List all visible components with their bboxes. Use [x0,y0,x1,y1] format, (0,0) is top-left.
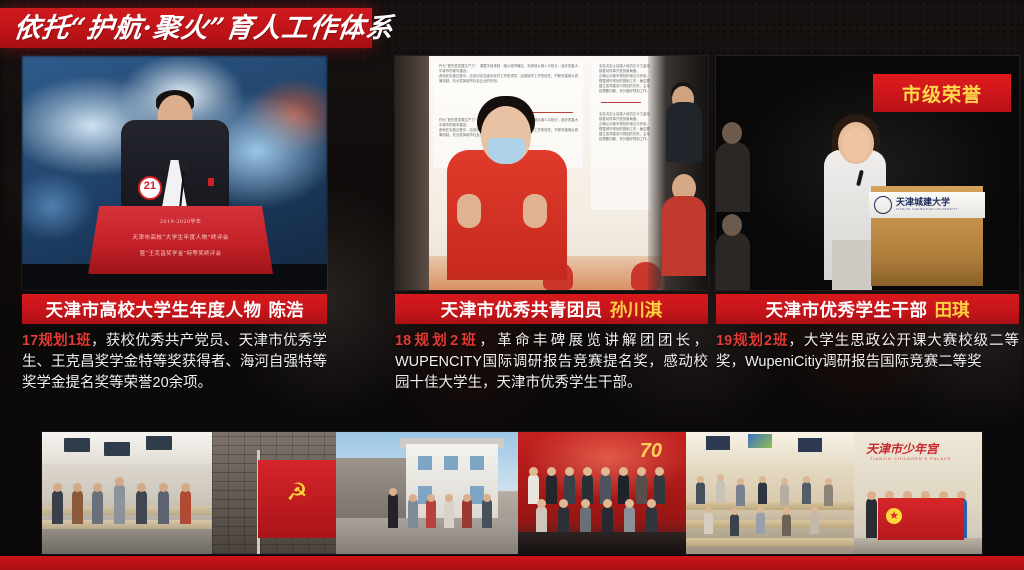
group-member-11 [580,506,591,532]
student-11-head [783,508,790,515]
page-title: 依托“护航·聚火”育人工作体系 [0,15,395,42]
group-member-7 [636,474,647,504]
student-8-head [705,506,712,513]
group-member-12-head [603,499,612,508]
honor-card-3-photo: 天津城建大学 TIANJIN CHENGJIAN UNIVERSITY 市级荣誉 [716,56,1019,290]
group-member-5-head [601,467,610,476]
student-2 [716,480,725,502]
attendee-4-head [115,477,124,486]
strip-photo-youth-league[interactable]: 天津市少年宫 TIANJIN CHILDREN'S PALACE ★ [854,432,982,554]
student-11 [782,514,791,536]
audience-silhouette-2 [716,232,750,290]
attendee-2-head [73,483,82,492]
visitor-6 [482,498,492,528]
group-member-14-head [647,499,656,508]
window-3 [470,456,484,470]
student-10-head [757,506,764,513]
group-member-13 [624,506,635,532]
hall-monitor-2 [748,434,772,448]
attendee-1 [52,490,63,524]
student-12 [810,512,819,534]
honor-card-2-role: 天津市优秀共青团员 [441,297,603,322]
student-10 [756,512,765,534]
visitor-2 [408,498,418,528]
city-honor-badge-label: 市级荣誉 [902,80,982,107]
exhibit-divider-b [601,102,641,103]
honor-card-3-name: 田琪 [935,297,970,322]
hall-monitor-3 [798,438,822,452]
visitor-4 [444,498,454,528]
thumbs-up-right-icon [523,194,547,228]
visitor-3-head [427,494,435,502]
visitor-4-head [445,494,453,502]
ceiling-screen-3 [146,436,172,450]
student-3-head [737,478,744,485]
contestant-number-badge: 21 [138,176,162,200]
group-member-8 [654,474,665,504]
slide-title-banner: 依托“护航·聚火”育人工作体系 [0,8,372,48]
group-member-3-head [565,467,574,476]
honor-cards-row: 21 2019-2020学年 天津市高校“大学生年度人物”终评会 暨“王克昌奖学… [0,56,1024,416]
honor-card-1-title: 天津市高校大学生年度人物 陈浩 [22,294,327,324]
honor-card-2-class: 18规划2班 [395,333,479,349]
bystander-1-body [666,102,702,162]
university-nameplate: 天津城建大学 TIANJIN CHENGJIAN UNIVERSITY [869,192,985,218]
visitor-1-head [389,488,397,496]
stage-front [518,532,686,554]
group-member-14 [646,506,657,532]
attendee-5 [136,490,147,524]
student-6-head [803,476,810,483]
bench-row-3 [686,538,854,546]
student-7 [824,484,833,506]
activity-photo-strip: ☭ 70 [42,432,982,554]
strip-photo-lecture-hall[interactable] [686,432,854,554]
student-8 [704,512,713,534]
venue-sign-subtitle: TIANJIN CHILDREN'S PALACE [870,456,952,461]
venue-sign-text: 天津市少年宫 [866,440,938,457]
attendee-2 [72,490,83,524]
group-member-9-head [537,499,546,508]
student-4 [758,482,767,504]
student-7-head [825,478,832,485]
bystander-2-body [662,196,706,276]
venue-floor [854,538,982,554]
audience-head-2 [722,214,742,236]
honor-card-1-photo: 21 2019-2020学年 天津市高校“大学生年度人物”终评会 暨“王克昌奖学… [22,56,327,290]
strip-photo-party-flag[interactable]: ☭ [212,432,336,554]
university-nameplate-text: 天津城建大学 TIANJIN CHENGJIAN UNIVERSITY [896,199,958,211]
honor-card-2-description: 18规划2班，革命丰碑展览讲解团团长，WUPENCITY国际调研报告竞赛提名奖，… [395,331,708,394]
group-member-13-head [625,499,634,508]
student-6 [802,482,811,504]
student-5-head [781,478,788,485]
honor-card-1-name: 陈浩 [269,297,304,322]
attendee-7 [180,490,191,524]
hall-monitor-1 [706,436,730,450]
student-9 [730,514,739,536]
audience-silhouette-1 [716,142,750,212]
ceiling-screen-2 [104,442,130,456]
visitor-2-head [409,494,417,502]
attendee-3-head [93,483,102,492]
strip-photo-group-70[interactable]: 70 [518,432,686,554]
student-1 [696,482,705,504]
group-member-11-head [581,499,590,508]
exhibit-text-b2: 全会决定从加强人民的正义力量持续推动改革开放的新局面。 正确认识城市规划的地位与… [599,112,651,182]
student-1-head [697,476,704,483]
city-honor-badge: 市级荣誉 [873,74,1011,112]
audience-head-1 [722,122,742,144]
attendee-1-head [53,483,62,492]
window-2 [444,456,458,470]
bottom-accent-bar [0,556,1024,570]
university-seal-icon [874,196,892,214]
strip-photo-field-visit[interactable] [336,432,518,554]
speaker-legs [832,240,872,290]
group-member-8-head [655,467,664,476]
window-1 [418,456,432,470]
ceremony-podium: 2019-2020学年 天津市高校“大学生年度人物”终评会 暨“王克昌奖学金”特… [88,206,273,274]
podium-line-1: 2019-2020学年 [88,220,273,225]
honor-card-2-name: 孙川淇 [610,297,663,322]
strip-photo-meeting-room[interactable] [42,432,212,554]
group-member-9 [536,506,547,532]
group-member-10-head [559,499,568,508]
hammer-and-sickle-icon: ☭ [284,480,310,506]
attendee-6 [158,490,169,524]
group-member-2 [546,474,557,504]
group-member-12 [602,506,613,532]
podium-line-3: 暨“王克昌奖学金”特等奖终评会 [88,252,273,257]
university-name-en: TIANJIN CHENGJIAN UNIVERSITY [896,208,958,211]
honor-card-2-title: 天津市优秀共青团员 孙川淇 [395,294,708,324]
honor-card-1-role: 天津市高校大学生年度人物 [46,297,262,322]
attendee-7-head [181,483,190,492]
league-member-1-head [867,491,876,500]
attendee-3 [92,490,103,524]
group-member-7-head [637,467,646,476]
honor-card-3-class: 19规划2班 [716,333,788,349]
group-member-10 [558,506,569,532]
student-2-head [717,474,724,481]
visitor-3 [426,498,436,528]
youth-league-emblem-icon: ★ [886,508,902,524]
student-9-head [731,508,738,515]
league-member-1 [866,498,877,538]
visitor-5 [462,498,472,528]
honor-card-3[interactable]: 天津城建大学 TIANJIN CHENGJIAN UNIVERSITY 市级荣誉… [716,56,1019,373]
student-5 [780,484,789,506]
student-3 [736,484,745,506]
attendee-5-head [137,483,146,492]
thumbs-up-left-icon [457,194,481,228]
student-4-head [759,476,766,483]
honor-card-3-role: 天津市优秀学生干部 [766,297,928,322]
face-mask-icon [487,138,525,164]
student-12-head [811,506,818,513]
ceiling-screen-1 [64,438,90,452]
honor-card-1-description: 17规划1班，获校优秀共产党员、天津市优秀学生、王克昌奖学金特等奖获得者、海河自… [22,331,327,394]
group-member-1-head [529,467,538,476]
attendee-6-head [159,483,168,492]
group-member-6-head [619,467,628,476]
honor-card-3-description: 19规划2班，大学生思政公开课大赛校级二等奖，WupeniCitiy调研报告国际… [716,331,1019,373]
honor-card-2[interactable]: 作为“首先是发展生产力”，调整字划体制，缩小城市辖区，完成城乡镇人口统计，逐步改… [395,56,708,394]
visitor-5-head [463,494,471,502]
party-emblem-pin-icon [208,178,214,186]
podium-line-2: 天津市高校“大学生年度人物”终评会 [88,236,273,242]
honor-card-1-class: 17规划1班 [22,333,91,349]
group-member-4-head [583,467,592,476]
honor-card-2-photo: 作为“首先是发展生产力”，调整字划体制，缩小城市辖区，完成城乡镇人口统计，逐步改… [395,56,708,290]
wall-shadow-left [395,56,429,290]
group-member-2-head [547,467,556,476]
speaker-face [842,128,870,162]
visitor-1 [388,492,398,528]
honor-card-1[interactable]: 21 2019-2020学年 天津市高校“大学生年度人物”终评会 暨“王克昌奖学… [22,56,327,394]
visitor-6-head [483,494,491,502]
attendee-4 [114,484,125,524]
honor-card-3-title: 天津市优秀学生干部 田琪 [716,294,1019,324]
slide-root: 依托“护航·聚火”育人工作体系 21 2019-2020学年 天津市高校“大学生… [0,0,1024,570]
anniversary-number: 70 [640,440,662,463]
